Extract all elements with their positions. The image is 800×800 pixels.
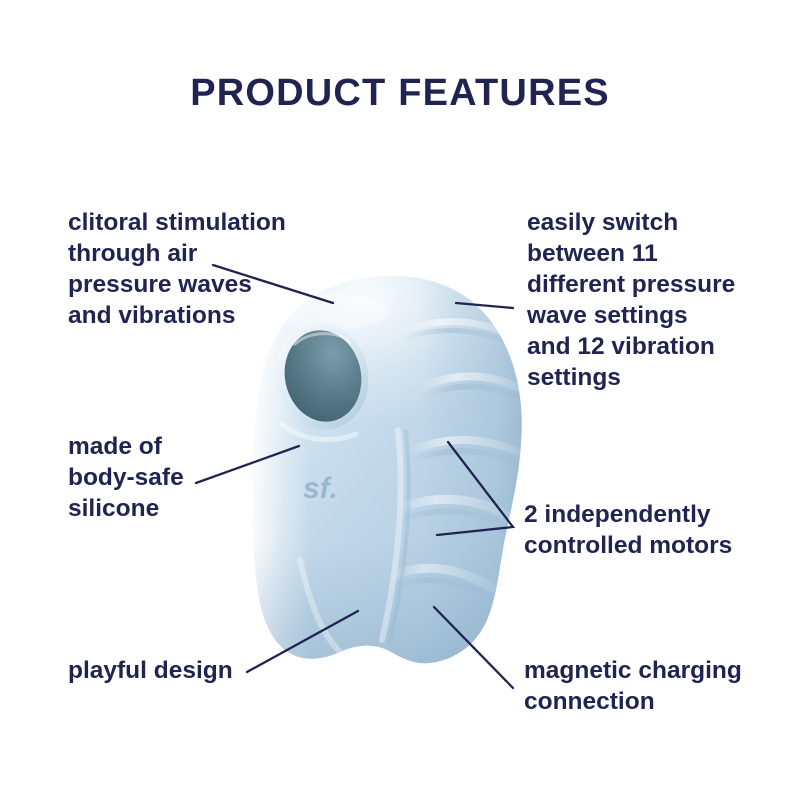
feature-label-independent-motors: 2 independently controlled motors <box>524 499 784 561</box>
feature-label-body-safe-silicone: made of body-safe silicone <box>68 431 288 524</box>
infographic-canvas: PRODUCT FEATURES <box>0 0 800 800</box>
brand-logo-sf: sf. <box>303 472 338 505</box>
feature-label-pressure-wave-settings: easily switch between 11 different press… <box>527 207 777 393</box>
feature-label-playful-design: playful design <box>68 655 288 686</box>
feature-label-magnetic-charging: magnetic charging connection <box>524 655 780 717</box>
feature-label-clitoral-stimulation: clitoral stimulation through air pressur… <box>68 207 318 331</box>
